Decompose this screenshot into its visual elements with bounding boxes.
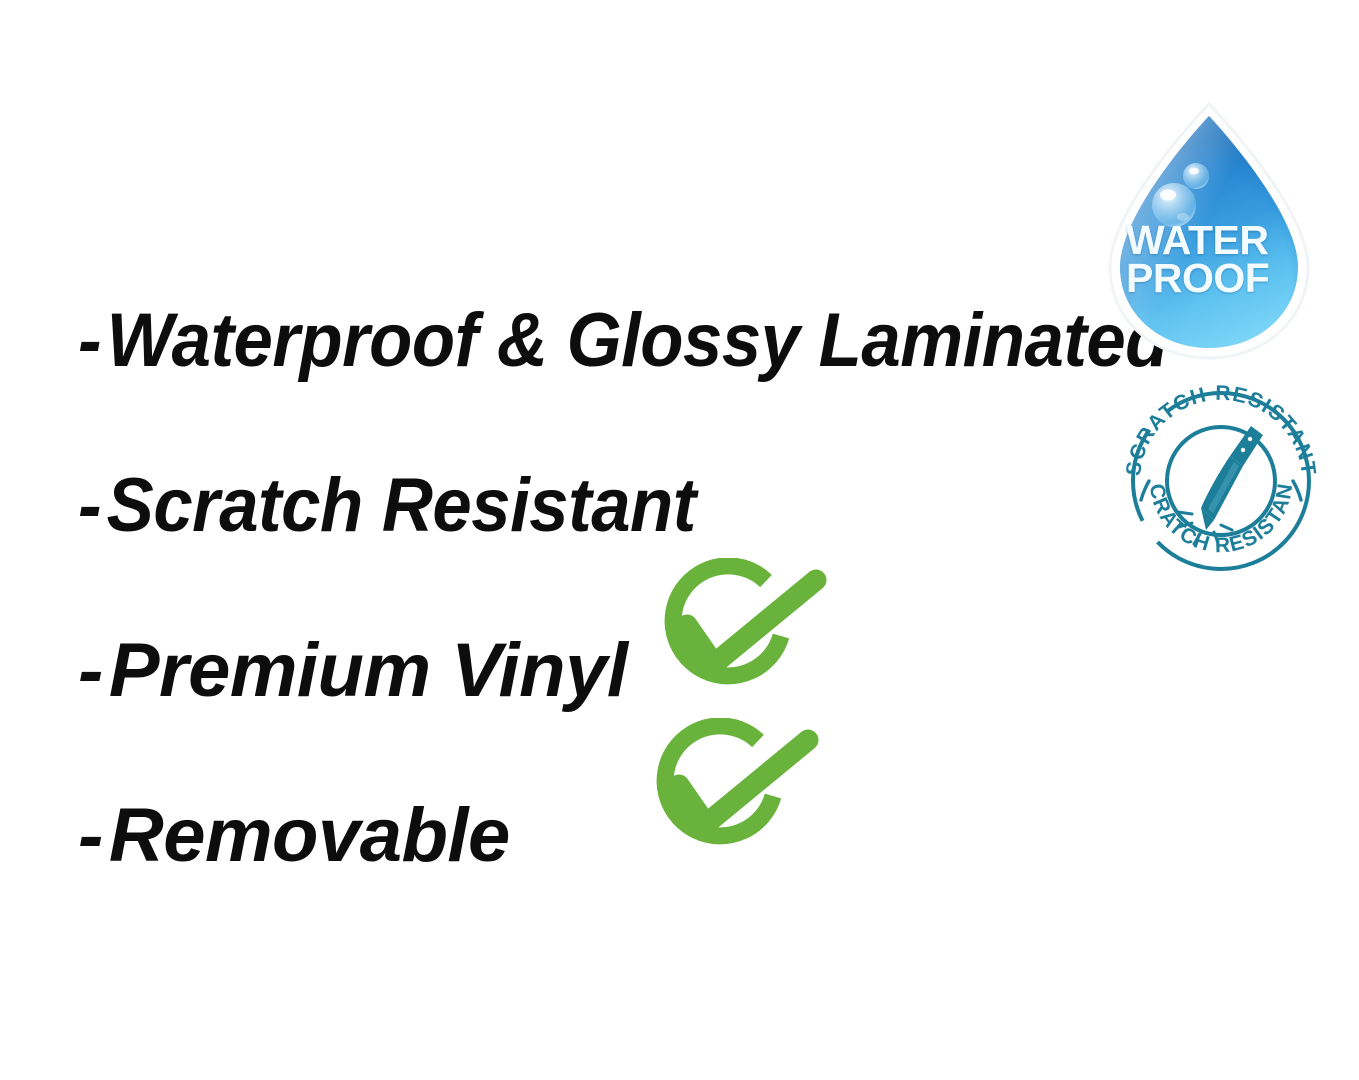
knife-icon bbox=[1201, 426, 1263, 530]
feature-item-waterproof: -Waterproof & Glossy Laminated bbox=[78, 258, 1088, 423]
feature-bullet-dash: - bbox=[78, 798, 103, 874]
feature-label: Premium Vinyl bbox=[109, 628, 628, 713]
check-stroke bbox=[687, 580, 816, 664]
bubble-small-icon bbox=[1183, 163, 1209, 189]
check-stroke bbox=[679, 740, 808, 824]
feature-text: -Scratch Resistant bbox=[78, 468, 696, 544]
drop-sheen bbox=[1120, 116, 1298, 348]
checkmark-removable bbox=[630, 718, 826, 868]
knife-rivet bbox=[1248, 437, 1252, 441]
feature-bullet-dash: - bbox=[78, 303, 101, 379]
feature-label: Removable bbox=[109, 793, 510, 878]
feature-text: -Waterproof & Glossy Laminated bbox=[78, 303, 1168, 379]
feature-item-removable: -Removable bbox=[78, 753, 1088, 918]
feature-label: Waterproof & Glossy Laminated bbox=[107, 298, 1168, 383]
feature-bullet-dash: - bbox=[78, 468, 101, 544]
feature-item-scratch-resistant: -Scratch Resistant bbox=[78, 423, 1088, 588]
check-circle-icon bbox=[638, 558, 834, 708]
bubble-large-highlight bbox=[1160, 190, 1176, 201]
knife-stamp-icon: SCRATCH RESISTANT SCRATCH RESISTANT bbox=[1122, 382, 1320, 572]
feature-list: -Waterproof & Glossy Laminated -Scratch … bbox=[78, 258, 1088, 918]
feature-text: -Removable bbox=[78, 798, 510, 874]
bubble-large-icon bbox=[1152, 183, 1196, 227]
checkmark-premium-vinyl bbox=[638, 558, 834, 708]
scratch-resistant-badge: SCRATCH RESISTANT SCRATCH RESISTANT bbox=[1122, 382, 1320, 572]
feature-bullet-dash: - bbox=[78, 633, 103, 709]
bubble-large-lowlight bbox=[1177, 213, 1189, 221]
knife-rivet bbox=[1241, 448, 1245, 452]
bubble-small-highlight bbox=[1189, 168, 1199, 175]
check-circle-icon bbox=[630, 718, 826, 868]
feature-text: -Premium Vinyl bbox=[78, 633, 627, 709]
feature-item-premium-vinyl: -Premium Vinyl bbox=[78, 588, 1088, 753]
feature-label: Scratch Resistant bbox=[107, 463, 696, 548]
waterproof-badge: WATER PROOF bbox=[1098, 100, 1320, 362]
feature-graphic-canvas: -Waterproof & Glossy Laminated -Scratch … bbox=[0, 0, 1359, 1080]
water-drop-icon bbox=[1098, 100, 1320, 362]
